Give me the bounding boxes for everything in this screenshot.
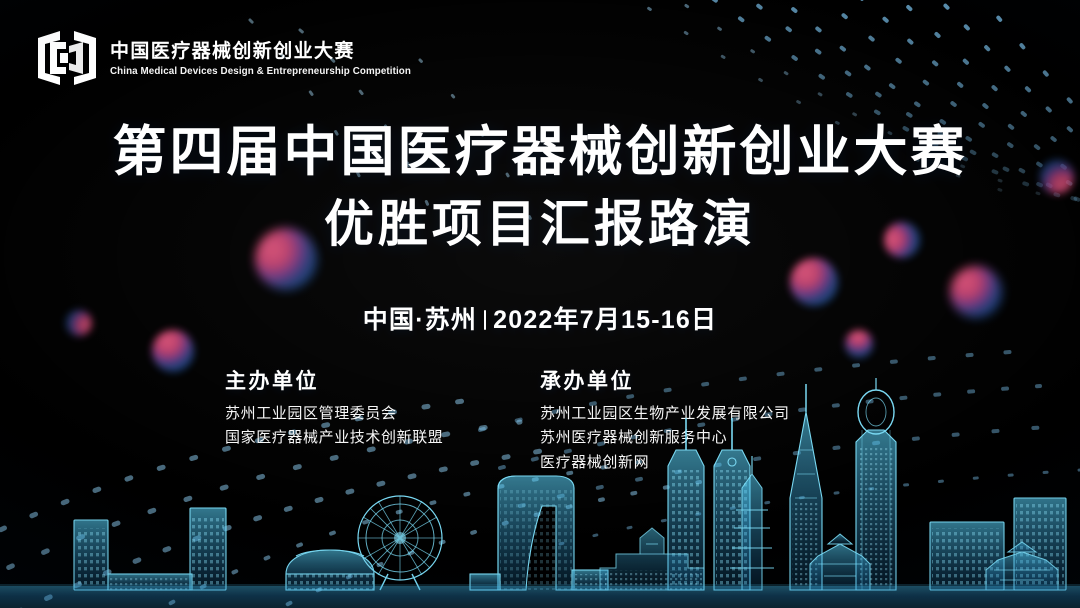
organizer-co-host-line: 苏州医疗器械创新服务中心: [540, 426, 855, 450]
title-line-2: 优胜项目汇报路演: [0, 192, 1080, 256]
brand-name-en: China Medical Devices Design & Entrepren…: [110, 66, 411, 77]
organizer-co-host: 承办单位 苏州工业园区生物产业发展有限公司 苏州医疗器械创新服务中心 医疗器械创…: [540, 370, 855, 475]
event-date: 2022年7月15-16日: [493, 306, 717, 334]
event-location: 中国·苏州: [363, 306, 477, 334]
organizer-co-host-line: 医疗器械创新网: [540, 451, 855, 475]
organizer-host-heading: 主办单位: [225, 370, 540, 393]
brand-name-cn: 中国医疗器械创新创业大赛: [110, 42, 417, 63]
organizer-co-host-line: 苏州工业园区生物产业发展有限公司: [540, 402, 855, 426]
organizer-host-line: 国家医疗器械产业技术创新联盟: [225, 426, 540, 450]
skyline-base-glow: [0, 586, 1080, 608]
organizers: 主办单位 苏州工业园区管理委员会 国家医疗器械产业技术创新联盟 承办单位 苏州工…: [0, 370, 1080, 475]
open-door-window-logo-icon: [36, 28, 98, 88]
organizer-co-host-heading: 承办单位: [540, 370, 855, 393]
event-meta: 中国·苏州2022年7月15-16日: [0, 300, 1080, 336]
title-line-1: 第四届中国医疗器械创新创业大赛: [0, 120, 1080, 186]
brand-lockup: 中国医疗器械创新创业大赛 China Medical Devices Desig…: [36, 28, 417, 88]
meta-separator: [484, 310, 486, 330]
organizer-host-line: 苏州工业园区管理委员会: [225, 402, 540, 426]
event-poster: 中国医疗器械创新创业大赛 China Medical Devices Desig…: [0, 0, 1080, 608]
title-block: 第四届中国医疗器械创新创业大赛 优胜项目汇报路演: [0, 120, 1080, 256]
organizer-host: 主办单位 苏州工业园区管理委员会 国家医疗器械产业技术创新联盟: [225, 370, 540, 475]
